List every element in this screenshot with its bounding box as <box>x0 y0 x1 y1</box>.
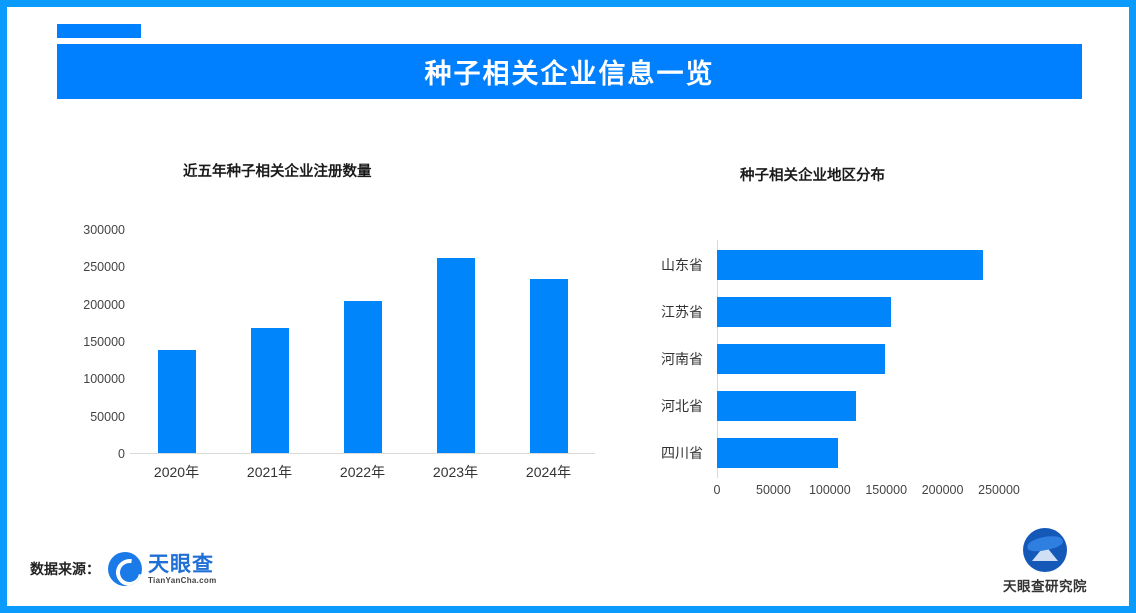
right-chart-x-tick: 200000 <box>922 483 964 497</box>
frame-right-strip <box>1129 0 1136 613</box>
left-chart-x-tick: 2023年 <box>433 462 478 482</box>
header-band: 种子相关企业信息一览 <box>57 44 1082 99</box>
right-chart-row: 河北省 <box>717 391 856 421</box>
tianyancha-name-cn: 天眼查 <box>148 553 214 576</box>
right-chart-category-label: 山东省 <box>661 255 703 275</box>
right-chart-row: 江苏省 <box>717 297 891 327</box>
region-bar-chart: 山东省江苏省河南省河北省四川省 050000100000150000200000… <box>717 240 1047 490</box>
source-label: 数据来源： <box>30 559 100 579</box>
right-chart-x-tick: 250000 <box>978 483 1020 497</box>
frame-bottom-strip <box>0 606 1136 613</box>
right-chart-bar <box>717 438 838 468</box>
right-chart-x-tick: 150000 <box>865 483 907 497</box>
left-chart-x-tick: 2024年 <box>526 462 571 482</box>
left-chart-y-axis: 050000100000150000200000250000300000 <box>57 230 125 454</box>
left-chart-y-tick: 100000 <box>83 372 125 386</box>
left-chart-bar <box>530 279 568 453</box>
right-chart-bar <box>717 250 983 280</box>
left-chart-x-tick: 2021年 <box>247 462 292 482</box>
frame-left-strip <box>0 0 7 613</box>
tianyancha-logo: 天眼查 TianYanCha.com <box>108 552 217 586</box>
left-chart-bar <box>251 328 289 453</box>
left-chart-x-tick: 2020年 <box>154 462 199 482</box>
right-chart-panel: 种子相关企业地区分布 山东省江苏省河南省河北省四川省 0500001000001… <box>620 140 1090 510</box>
left-chart-panel: 近五年种子相关企业注册数量 05000010000015000020000025… <box>57 140 617 510</box>
right-chart-category-label: 江苏省 <box>661 302 703 322</box>
left-chart-bar <box>344 301 382 453</box>
corner-accent-block <box>57 24 141 38</box>
right-chart-category-label: 四川省 <box>661 443 703 463</box>
right-chart-row: 山东省 <box>717 250 983 280</box>
tianyancha-eye-icon <box>108 552 142 586</box>
left-chart-y-tick: 150000 <box>83 335 125 349</box>
institute-logo-icon <box>1023 528 1067 572</box>
right-chart-x-axis: 050000100000150000200000250000 <box>717 483 1057 505</box>
tianyancha-name-en: TianYanCha.com <box>148 577 217 585</box>
left-chart-x-tick: 2022年 <box>340 462 385 482</box>
left-chart-y-tick: 250000 <box>83 260 125 274</box>
page-title: 种子相关企业信息一览 <box>425 52 715 91</box>
right-chart-x-tick: 0 <box>714 483 721 497</box>
right-chart-row: 四川省 <box>717 438 838 468</box>
left-chart-x-axis: 2020年2021年2022年2023年2024年 <box>130 462 595 486</box>
infographic-page: 种子相关企业信息一览 近五年种子相关企业注册数量 050000100000150… <box>0 0 1136 613</box>
left-chart-y-tick: 300000 <box>83 223 125 237</box>
right-chart-title: 种子相关企业地区分布 <box>740 164 885 185</box>
right-chart-x-tick: 50000 <box>756 483 791 497</box>
right-chart-x-tick: 100000 <box>809 483 851 497</box>
frame-top-strip <box>0 0 1136 7</box>
right-chart-bar <box>717 344 885 374</box>
left-chart-y-tick: 200000 <box>83 298 125 312</box>
left-chart-bar <box>158 350 196 453</box>
right-chart-bar <box>717 391 856 421</box>
right-chart-bar <box>717 297 891 327</box>
right-chart-category-label: 河北省 <box>661 396 703 416</box>
left-chart-y-tick: 50000 <box>90 410 125 424</box>
left-chart-title: 近五年种子相关企业注册数量 <box>183 160 372 181</box>
left-chart-plot-area <box>130 230 595 454</box>
right-chart-category-label: 河南省 <box>661 349 703 369</box>
registration-bar-chart: 050000100000150000200000250000300000 202… <box>130 230 595 462</box>
left-chart-bar <box>437 258 475 453</box>
data-source: 数据来源： 天眼查 TianYanCha.com <box>30 552 217 586</box>
left-chart-y-tick: 0 <box>118 447 125 461</box>
tianyancha-wordmark: 天眼查 TianYanCha.com <box>148 554 217 585</box>
research-institute-brand: 天眼查研究院 <box>990 528 1100 595</box>
institute-name: 天眼查研究院 <box>1003 575 1087 595</box>
right-chart-row: 河南省 <box>717 344 885 374</box>
